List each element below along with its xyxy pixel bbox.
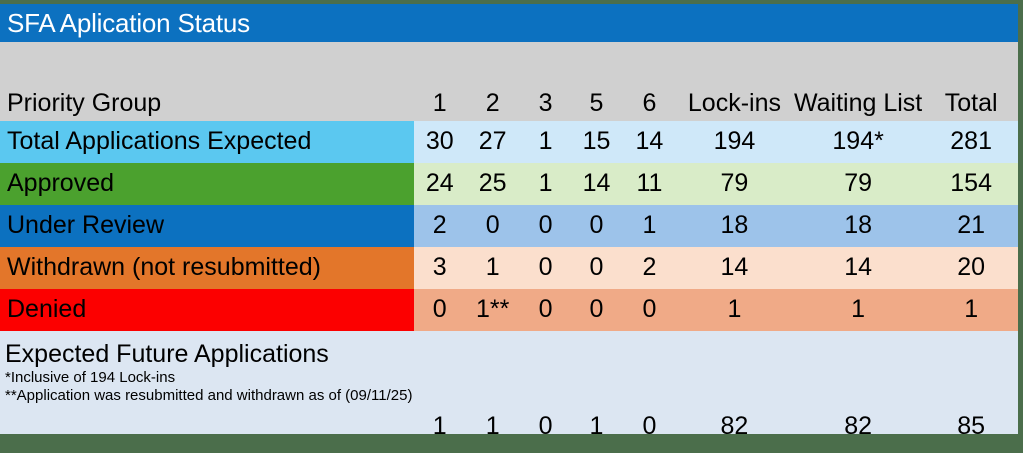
cell-total-expected-5: 15: [571, 121, 622, 163]
table-header-row: Priority Group 1 2 3 5 6 Lock-ins Waitin…: [0, 42, 1018, 121]
table-row-withdrawn: Withdrawn (not resubmitted) 3 1 0 0 2 14…: [0, 247, 1018, 289]
application-status-table: Priority Group 1 2 3 5 6 Lock-ins Waitin…: [0, 42, 1018, 434]
cell-approved-lock-ins: 79: [677, 163, 792, 205]
cell-approved-6: 11: [622, 163, 677, 205]
cell-approved-1: 24: [414, 163, 465, 205]
cell-future-total: 85: [924, 331, 1018, 434]
footer-note-resubmitted: **Application was resubmitted and withdr…: [5, 387, 414, 405]
slide-root: SFA Aplication Status Priority Group 1 2…: [0, 0, 1023, 453]
slide-content: SFA Aplication Status Priority Group 1 2…: [0, 4, 1018, 434]
cell-denied-5: 0: [571, 289, 622, 331]
header-col-waiting-list: Waiting List: [792, 42, 924, 121]
table-row-denied: Denied 0 1** 0 0 0 1 1 1: [0, 289, 1018, 331]
cell-denied-waiting-list: 1: [792, 289, 924, 331]
cell-withdrawn-6: 2: [622, 247, 677, 289]
cell-withdrawn-lock-ins: 14: [677, 247, 792, 289]
header-col-lock-ins: Lock-ins: [677, 42, 792, 121]
row-label-withdrawn: Withdrawn (not resubmitted): [0, 247, 414, 289]
cell-under-review-1: 2: [414, 205, 465, 247]
cell-denied-6: 0: [622, 289, 677, 331]
cell-total-expected-lock-ins: 194: [677, 121, 792, 163]
row-label-approved: Approved: [0, 163, 414, 205]
cell-under-review-5: 0: [571, 205, 622, 247]
row-label-denied: Denied: [0, 289, 414, 331]
row-label-expected-future-applications: Expected Future Applications *Inclusive …: [0, 331, 414, 434]
cell-withdrawn-total: 20: [924, 247, 1018, 289]
cell-withdrawn-5: 0: [571, 247, 622, 289]
header-col-1: 1: [414, 42, 465, 121]
cell-approved-3: 1: [520, 163, 571, 205]
cell-under-review-waiting-list: 18: [792, 205, 924, 247]
cell-approved-2: 25: [465, 163, 520, 205]
cell-future-3: 0: [520, 331, 571, 434]
header-col-6: 6: [622, 42, 677, 121]
cell-withdrawn-waiting-list: 14: [792, 247, 924, 289]
header-col-total: Total: [924, 42, 1018, 121]
table-row-expected-future-applications: Expected Future Applications *Inclusive …: [0, 331, 1018, 434]
cell-denied-2: 1**: [465, 289, 520, 331]
cell-future-1: 1: [414, 331, 465, 434]
cell-under-review-2: 0: [465, 205, 520, 247]
cell-approved-total: 154: [924, 163, 1018, 205]
header-col-5: 5: [571, 42, 622, 121]
footer-note-lock-ins: *Inclusive of 194 Lock-ins: [5, 369, 414, 387]
cell-denied-lock-ins: 1: [677, 289, 792, 331]
cell-denied-3: 0: [520, 289, 571, 331]
header-col-2: 2: [465, 42, 520, 121]
cell-future-2: 1: [465, 331, 520, 434]
cell-total-expected-6: 14: [622, 121, 677, 163]
table-row-under-review: Under Review 2 0 0 0 1 18 18 21: [0, 205, 1018, 247]
cell-withdrawn-2: 1: [465, 247, 520, 289]
cell-withdrawn-3: 0: [520, 247, 571, 289]
row-label-total-applications-expected: Total Applications Expected: [0, 121, 414, 163]
cell-future-lock-ins: 82: [677, 331, 792, 434]
footer-title: Expected Future Applications: [5, 339, 414, 369]
cell-total-expected-waiting-list: 194*: [792, 121, 924, 163]
cell-total-expected-3: 1: [520, 121, 571, 163]
cell-future-waiting-list: 82: [792, 331, 924, 434]
cell-total-expected-2: 27: [465, 121, 520, 163]
cell-denied-1: 0: [414, 289, 465, 331]
row-label-under-review: Under Review: [0, 205, 414, 247]
cell-approved-5: 14: [571, 163, 622, 205]
slide-title: SFA Aplication Status: [0, 4, 1018, 42]
cell-denied-total: 1: [924, 289, 1018, 331]
cell-withdrawn-1: 3: [414, 247, 465, 289]
table-row-total-applications-expected: Total Applications Expected 30 27 1 15 1…: [0, 121, 1018, 163]
cell-under-review-lock-ins: 18: [677, 205, 792, 247]
header-priority-group: Priority Group: [0, 42, 414, 121]
header-col-3: 3: [520, 42, 571, 121]
cell-under-review-6: 1: [622, 205, 677, 247]
table-row-approved: Approved 24 25 1 14 11 79 79 154: [0, 163, 1018, 205]
cell-total-expected-1: 30: [414, 121, 465, 163]
cell-total-expected-total: 281: [924, 121, 1018, 163]
cell-under-review-total: 21: [924, 205, 1018, 247]
cell-future-5: 1: [571, 331, 622, 434]
cell-future-6: 0: [622, 331, 677, 434]
cell-approved-waiting-list: 79: [792, 163, 924, 205]
cell-under-review-3: 0: [520, 205, 571, 247]
